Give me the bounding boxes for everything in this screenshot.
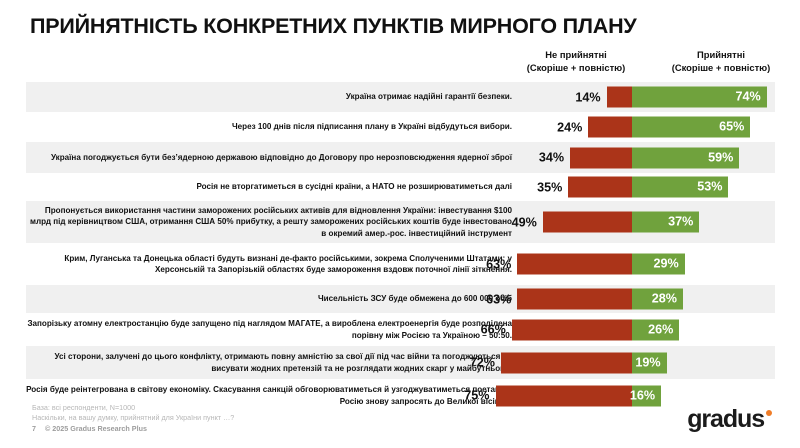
bar-value-negative: 72% — [470, 356, 495, 370]
bar-segment-positive: 37% — [632, 212, 699, 233]
bar-segment-negative — [568, 177, 632, 198]
bar-segment-negative — [512, 319, 632, 340]
row-statement-label: Через 100 днів після підписання плану в … — [26, 121, 521, 132]
infographic-slide: ПРИЙНЯТНІСТЬ КОНКРЕТНИХ ПУНКТІВ МИРНОГО … — [0, 0, 800, 448]
column-header-negative-line1: Не прийнятні — [505, 48, 647, 61]
bar-track: 26%66% — [521, 319, 775, 340]
bar-segment-negative — [607, 87, 632, 108]
row-bar-zone: 65%24% — [521, 112, 775, 142]
row-bar-zone: 37%49% — [521, 201, 775, 243]
bar-value-positive: 59% — [708, 147, 733, 168]
bar-segment-negative — [496, 385, 633, 406]
bar-segment-negative — [543, 212, 632, 233]
bar-segment-positive: 26% — [632, 319, 679, 340]
bar-value-positive: 28% — [652, 289, 677, 310]
bar-track: 16%75% — [521, 385, 775, 406]
bar-segment-positive: 65% — [632, 117, 750, 138]
row-bar-zone: 19%72% — [521, 346, 775, 379]
row-bar-zone: 59%34% — [521, 142, 775, 173]
table-row: Через 100 днів після підписання плану в … — [26, 112, 775, 142]
logo-dot-icon — [766, 410, 772, 416]
bar-segment-positive: 53% — [632, 177, 728, 198]
gradus-logo: gradus — [687, 407, 772, 432]
footer-question: Наскільки, на вашу думку, прийнятний для… — [32, 413, 234, 423]
table-row: Запорізьку атомну електростанцію буде за… — [26, 313, 775, 346]
bar-segment-negative — [517, 254, 632, 275]
table-row: Україна отримає надійні гарантії безпеки… — [26, 82, 775, 112]
row-statement-label: Крим, Луганська та Донецька області буду… — [26, 253, 521, 276]
bar-value-positive: 29% — [654, 254, 679, 275]
row-bar-zone: 74%14% — [521, 82, 775, 112]
column-header-negative: Не прийнятні (Скоріше + повністю) — [505, 48, 647, 74]
bar-segment-positive: 59% — [632, 147, 739, 168]
row-statement-label: Україна отримає надійні гарантії безпеки… — [26, 91, 521, 102]
bar-track: 28%63% — [521, 289, 775, 310]
column-header-negative-line2: (Скоріше + повністю) — [505, 61, 647, 74]
table-row: Росія не вторгатиметься в сусідні країни… — [26, 173, 775, 201]
bar-track: 65%24% — [521, 117, 775, 138]
logo-wordmark: gradus — [687, 407, 764, 432]
table-row: Чисельність ЗСУ буде обмежена до 600 000… — [26, 285, 775, 313]
bar-track: 74%14% — [521, 87, 775, 108]
column-header-positive-line1: Прийнятні — [647, 48, 795, 61]
bar-value-negative: 14% — [575, 90, 600, 104]
footer: База: всі респонденти, N=1000 Наскільки,… — [32, 403, 234, 434]
table-row: Пропонується використання частини заморо… — [26, 201, 775, 243]
bar-value-positive: 37% — [668, 212, 693, 233]
bar-value-negative: 66% — [481, 323, 506, 337]
bar-value-positive: 16% — [630, 385, 655, 406]
row-bar-zone: 29%63% — [521, 243, 775, 285]
bar-track: 53%35% — [521, 177, 775, 198]
table-row: Крим, Луганська та Донецька області буду… — [26, 243, 775, 285]
bar-value-negative: 63% — [486, 292, 511, 306]
row-bar-zone: 53%35% — [521, 173, 775, 201]
column-header-positive-line2: (Скоріше + повністю) — [647, 61, 795, 74]
copyright-text: © 2025 Gradus Research Plus — [45, 424, 147, 434]
row-statement-label: Росія не вторгатиметься в сусідні країни… — [26, 181, 521, 192]
column-header-positive: Прийнятні (Скоріше + повністю) — [647, 48, 795, 74]
bar-track: 37%49% — [521, 212, 775, 233]
bar-segment-positive: 28% — [632, 289, 683, 310]
bar-track: 29%63% — [521, 254, 775, 275]
bar-segment-positive: 29% — [632, 254, 685, 275]
bar-segment-positive: 19% — [632, 352, 667, 373]
bar-segment-positive: 16% — [632, 385, 661, 406]
bar-segment-positive: 74% — [632, 87, 767, 108]
bar-value-positive: 19% — [635, 352, 660, 373]
bar-value-positive: 53% — [697, 177, 722, 198]
bar-value-positive: 65% — [719, 117, 744, 138]
bar-value-negative: 63% — [486, 257, 511, 271]
bar-segment-negative — [517, 289, 632, 310]
bar-track: 59%34% — [521, 147, 775, 168]
table-row: Усі сторони, залучені до цього конфлікту… — [26, 346, 775, 379]
page-title: ПРИЙНЯТНІСТЬ КОНКРЕТНИХ ПУНКТІВ МИРНОГО … — [30, 14, 775, 39]
bar-value-negative: 24% — [557, 120, 582, 134]
row-statement-label: Запорізьку атомну електростанцію буде за… — [26, 318, 521, 341]
bar-segment-negative — [570, 147, 632, 168]
row-statement-label: Україна погоджується бути без’ядерною де… — [26, 152, 521, 163]
row-statement-label: Пропонується використання частини заморо… — [26, 205, 521, 239]
bar-value-negative: 75% — [464, 389, 489, 403]
footer-copyright-row: 7 © 2025 Gradus Research Plus — [32, 424, 234, 434]
table-row: Україна погоджується бути без’ядерною де… — [26, 142, 775, 173]
row-bar-zone: 26%66% — [521, 313, 775, 346]
row-bar-zone: 28%63% — [521, 285, 775, 313]
column-headers: Не прийнятні (Скоріше + повністю) Прийня… — [505, 48, 795, 74]
row-statement-label: Усі сторони, залучені до цього конфлікту… — [26, 351, 521, 374]
slide-number: 7 — [32, 424, 36, 434]
footer-base: База: всі респонденти, N=1000 — [32, 403, 234, 413]
chart-rows: Україна отримає надійні гарантії безпеки… — [26, 82, 775, 412]
bar-track: 19%72% — [521, 352, 775, 373]
bar-value-positive: 26% — [648, 319, 673, 340]
bar-value-negative: 49% — [512, 215, 537, 229]
bar-segment-negative — [501, 352, 632, 373]
bar-value-negative: 34% — [539, 151, 564, 165]
row-statement-label: Чисельність ЗСУ буде обмежена до 600 000… — [26, 293, 521, 304]
bar-value-positive: 74% — [735, 87, 760, 108]
bar-segment-negative — [588, 117, 632, 138]
bar-value-negative: 35% — [537, 180, 562, 194]
